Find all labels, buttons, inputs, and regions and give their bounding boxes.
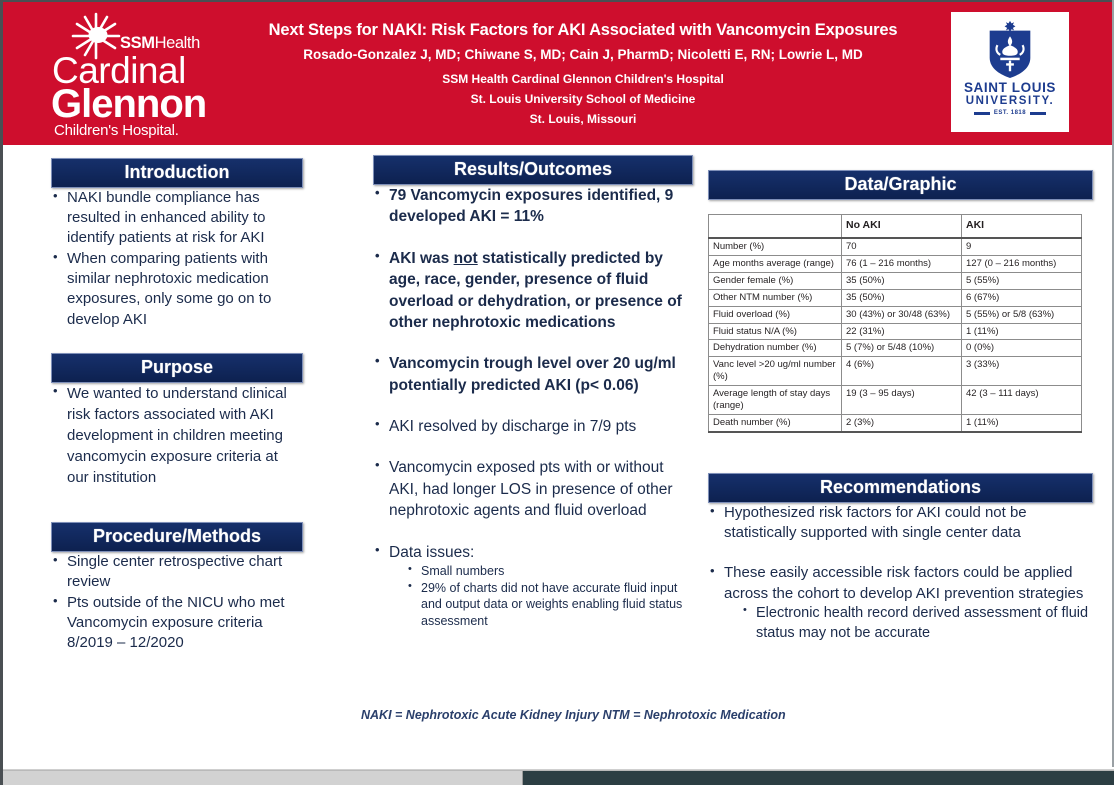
table-body: Number (%) 70 9 Age months average (rang… [709,238,1082,432]
list-item: Pts outside of the NICU who met Vancomyc… [51,593,303,653]
cell-no-aki: 35 (50%) [842,289,962,306]
cell-no-aki: 2 (3%) [842,414,962,431]
table-header: No AKI AKI [709,215,1082,239]
list-item: When comparing patients with similar nep… [51,249,303,329]
list-item: 29% of charts did not have accurate flui… [407,580,693,629]
list-item: Electronic health record derived assessm… [742,604,1093,643]
cell-no-aki: 35 (50%) [842,272,962,289]
cell-aki: 1 (11%) [962,414,1082,431]
slu-established-year: EST. 1818 [994,110,1026,116]
poster-header: SSMHealth Cardinal Glennon Children's Ho… [3,0,1112,145]
list-item: NAKI bundle compliance has resulted in e… [51,188,303,248]
abbreviations-footnote: NAKI = Nephrotoxic Acute Kidney Injury N… [361,708,786,722]
cell-aki: 6 (67%) [962,289,1082,306]
title-block: Next Steps for NAKI: Risk Factors for AK… [228,20,938,130]
slu-established-mark: EST. 1818 [974,110,1046,116]
scrollbar-thumb[interactable] [3,771,523,785]
table-row: Vanc level >20 ug/ml number (%) 4 (6%) 3… [709,357,1082,386]
table-row: Death number (%) 2 (3%) 1 (11%) [709,414,1082,431]
column-header-no-aki: No AKI [842,215,962,239]
list-item: AKI resolved by discharge in 7/9 pts [373,416,693,437]
slu-name-line-1: SAINT LOUIS [964,80,1056,95]
table-row: Number (%) 70 9 [709,238,1082,255]
cell-no-aki: 19 (3 – 95 days) [842,386,962,415]
list-item: We wanted to understand clinical risk fa… [51,383,303,488]
spacer-before-purpose [51,331,303,353]
horizontal-scrollbar[interactable] [3,770,1114,785]
data-table-wrapper: No AKI AKI Number (%) 70 9 Age months av… [708,214,1093,433]
section-header-results-outcomes: Results/Outcomes [373,155,693,185]
slu-shield-icon [984,18,1036,78]
column-header-aki: AKI [962,215,1082,239]
recommendations-header-wrapper: Recommendations [708,473,1093,503]
cell-metric: Fluid status N/A (%) [709,323,842,340]
cell-metric: Fluid overload (%) [709,306,842,323]
data-issues-sublist: Small numbers 29% of charts did not have… [389,563,693,629]
list-item: Small numbers [407,563,693,579]
spacer-before-procedure [51,488,303,522]
poster-affiliations: SSM Health Cardinal Glennon Children's H… [228,70,938,129]
cell-no-aki: 22 (31%) [842,323,962,340]
section-header-recommendations: Recommendations [708,473,1093,503]
list-item-with-underline: AKI was not statistically predicted by a… [373,248,693,334]
list-item: Single center retrospective chart review [51,552,303,592]
list-item: These easily accessible risk factors cou… [708,563,1093,643]
childrens-hospital-wordmark: Children's Hospital. [54,122,179,139]
cell-aki: 5 (55%) or 5/8 (63%) [962,306,1082,323]
aki-comparison-table: No AKI AKI Number (%) 70 9 Age months av… [708,214,1082,433]
purpose-bullet-list: We wanted to understand clinical risk fa… [51,383,303,488]
result-text-underlined: not [454,250,478,267]
cell-no-aki: 4 (6%) [842,357,962,386]
cell-aki: 0 (0%) [962,340,1082,357]
poster-title: Next Steps for NAKI: Risk Factors for AK… [228,20,938,41]
result-text-pre: AKI was [389,250,454,267]
table-row: Other NTM number (%) 35 (50%) 6 (67%) [709,289,1082,306]
table-row: Dehydration number (%) 5 (7%) or 5/48 (1… [709,340,1082,357]
poster-canvas: SSMHealth Cardinal Glennon Children's Ho… [0,0,1114,785]
list-item: Hypothesized risk factors for AKI could … [708,503,1093,544]
cell-aki: 1 (11%) [962,323,1082,340]
cell-aki: 42 (3 – 111 days) [962,386,1082,415]
section-header-data-graphic: Data/Graphic [708,170,1093,200]
cell-metric: Gender female (%) [709,272,842,289]
section-header-purpose: Purpose [51,353,303,383]
recommendations-bullet-list: Hypothesized risk factors for AKI could … [708,503,1093,644]
section-header-procedure-methods: Procedure/Methods [51,522,303,552]
results-bullet-list: 79 Vancomycin exposures identified, 9 de… [373,185,693,629]
right-column: Data/Graphic No AKI AKI Number (%) 70 9 [708,170,1093,664]
left-column: Introduction NAKI bundle compliance has … [51,158,303,654]
list-item: Vancomycin trough level over 20 ug/ml po… [373,353,693,396]
cell-no-aki: 76 (1 – 216 months) [842,256,962,273]
table-row: Fluid overload (%) 30 (43%) or 30/48 (63… [709,306,1082,323]
table-row: Age months average (range) 76 (1 – 216 m… [709,256,1082,273]
slu-name-line-2: UNIVERSITY. [966,95,1055,107]
table-row: Average length of stay days (range) 19 (… [709,386,1082,415]
glennon-wordmark: Glennon [51,84,206,124]
table-header-row: No AKI AKI [709,215,1082,239]
ssm-cardinal-glennon-logo: SSMHealth Cardinal Glennon Children's Ho… [48,8,228,143]
cell-metric: Vanc level >20 ug/ml number (%) [709,357,842,386]
cell-no-aki: 70 [842,238,962,255]
cell-no-aki: 30 (43%) or 30/48 (63%) [842,306,962,323]
cell-metric: Number (%) [709,238,842,255]
cell-aki: 3 (33%) [962,357,1082,386]
slu-dash-left [974,112,990,115]
table-row: Fluid status N/A (%) 22 (31%) 1 (11%) [709,323,1082,340]
cell-metric: Other NTM number (%) [709,289,842,306]
affiliation-line-3: St. Louis, Missouri [228,110,938,130]
affiliation-line-2: St. Louis University School of Medicine [228,90,938,110]
cell-aki: 5 (55%) [962,272,1082,289]
recommendation-text: These easily accessible risk factors cou… [724,564,1083,601]
table-row: Gender female (%) 35 (50%) 5 (55%) [709,272,1082,289]
column-header-metric [709,215,842,239]
cell-aki: 9 [962,238,1082,255]
cell-metric: Average length of stay days (range) [709,386,842,415]
list-item: Vancomycin exposed pts with or without A… [373,457,693,521]
data-issues-label: Data issues: [389,544,474,561]
saint-louis-university-logo: SAINT LOUIS UNIVERSITY. EST. 1818 [951,12,1069,132]
recommendations-sublist: Electronic health record derived assessm… [724,604,1093,643]
affiliation-line-1: SSM Health Cardinal Glennon Children's H… [228,70,938,90]
procedure-bullet-list: Single center retrospective chart review… [51,552,303,653]
middle-column: Results/Outcomes 79 Vancomycin exposures… [373,155,693,633]
cell-no-aki: 5 (7%) or 5/48 (10%) [842,340,962,357]
cell-metric: Age months average (range) [709,256,842,273]
cell-metric: Death number (%) [709,414,842,431]
cell-aki: 127 (0 – 216 months) [962,256,1082,273]
cell-metric: Dehydration number (%) [709,340,842,357]
list-item: Data issues: Small numbers 29% of charts… [373,542,693,629]
list-item: 79 Vancomycin exposures identified, 9 de… [373,185,693,228]
slu-dash-right [1030,112,1046,115]
section-header-introduction: Introduction [51,158,303,188]
poster-authors: Rosado-Gonzalez J, MD; Chiwane S, MD; Ca… [228,46,938,64]
introduction-bullet-list: NAKI bundle compliance has resulted in e… [51,188,303,330]
